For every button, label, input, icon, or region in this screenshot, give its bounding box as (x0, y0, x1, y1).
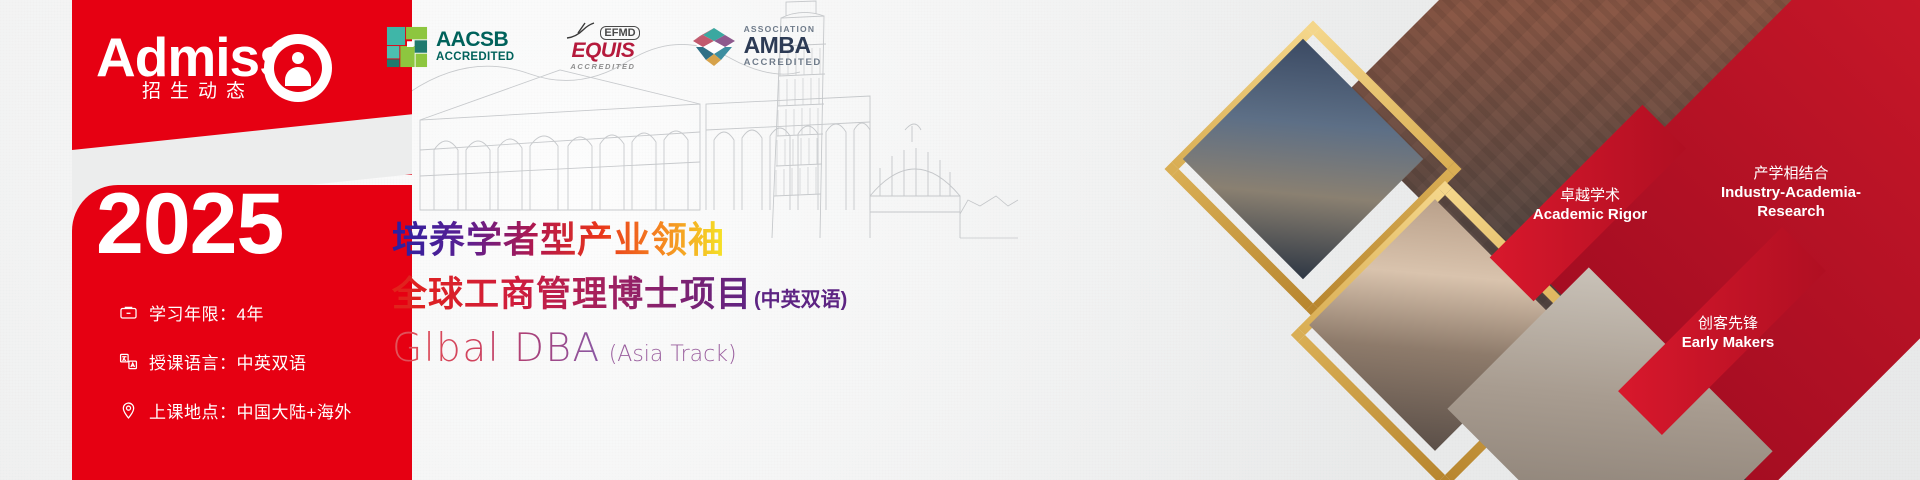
efmd-label: EFMD (600, 26, 639, 40)
badge-label-en: Academic Rigor (1510, 205, 1670, 224)
info-item-text: 授课语言：中英双语 (149, 349, 307, 374)
aacsb-mark-icon (386, 26, 428, 68)
info-item-text: 上课地点：中国大陆+海外 (149, 398, 352, 423)
headline-program-name: 全球工商管理博士项目 (392, 274, 752, 316)
badge-academic-rigor: 卓越学术 Academic Rigor (1510, 186, 1670, 224)
headline-block: 培养学者型产业领袖 全球工商管理博士项目 (中英双语) Glbal DBA (A… (392, 218, 1032, 372)
program-info-list: 学习年限：4年 授课语言：中英双语 (118, 300, 408, 447)
photo-collage: 卓越学术 Academic Rigor 产学相结合 Industry-Acade… (1150, 0, 1920, 480)
left-red-panel: Admissi 招生动态 2025 学习年限：4年 (0, 0, 412, 480)
info-item-text: 学习年限：4年 (149, 300, 264, 325)
equis-title: EQUIS (566, 40, 639, 62)
amba-title: AMBA (744, 34, 822, 57)
aacsb-logo: AACSB ACCREDITED (386, 26, 514, 68)
equis-swoosh-icon (566, 22, 596, 40)
language-icon (118, 352, 138, 372)
calendar-icon (118, 303, 138, 323)
headline-program-suffix: (中英双语) (754, 283, 847, 312)
admission-logo: Admissi 招生动态 (96, 28, 396, 120)
badge-label-cn: 卓越学术 (1510, 186, 1670, 205)
admission-logo-subtitle: 招生动态 (142, 76, 254, 103)
year-label: 2025 (96, 176, 396, 272)
aacsb-title: AACSB (436, 29, 514, 50)
info-item-location: 上课地点：中国大陆+海外 (118, 398, 408, 423)
amba-logo: ASSOCIATION AMBA ACCREDITED (692, 24, 822, 69)
badge-label-en: Industry-Academia-Research (1696, 183, 1886, 221)
admission-banner: Admissi 招生动态 2025 学习年限：4年 (0, 0, 1920, 480)
amba-subtitle: ACCREDITED (744, 57, 822, 69)
person-icon (282, 52, 314, 86)
amba-diamond-icon (692, 27, 736, 67)
headline-program-en-suffix: (Asia Track) (609, 342, 737, 367)
equis-logo: EFMD EQUIS ACCREDITED (566, 22, 639, 71)
aacsb-subtitle: ACCREDITED (436, 50, 514, 64)
badge-label-cn: 产学相结合 (1696, 164, 1886, 183)
badge-early-makers: 创客先锋 Early Makers (1638, 314, 1818, 352)
location-pin-icon (118, 401, 138, 421)
badge-label-cn: 创客先锋 (1638, 314, 1818, 333)
badge-industry-academia: 产学相结合 Industry-Academia-Research (1696, 164, 1886, 222)
equis-subtitle: ACCREDITED (566, 62, 639, 71)
headline-tagline: 培养学者型产业领袖 (392, 218, 725, 262)
accreditation-logos: AACSB ACCREDITED EFMD EQUIS ACCREDITED (386, 22, 822, 71)
info-item-language: 授课语言：中英双语 (118, 349, 408, 374)
info-item-duration: 学习年限：4年 (118, 300, 408, 325)
headline-program-en: Glbal DBA (392, 326, 601, 372)
badge-label-en: Early Makers (1638, 333, 1818, 352)
